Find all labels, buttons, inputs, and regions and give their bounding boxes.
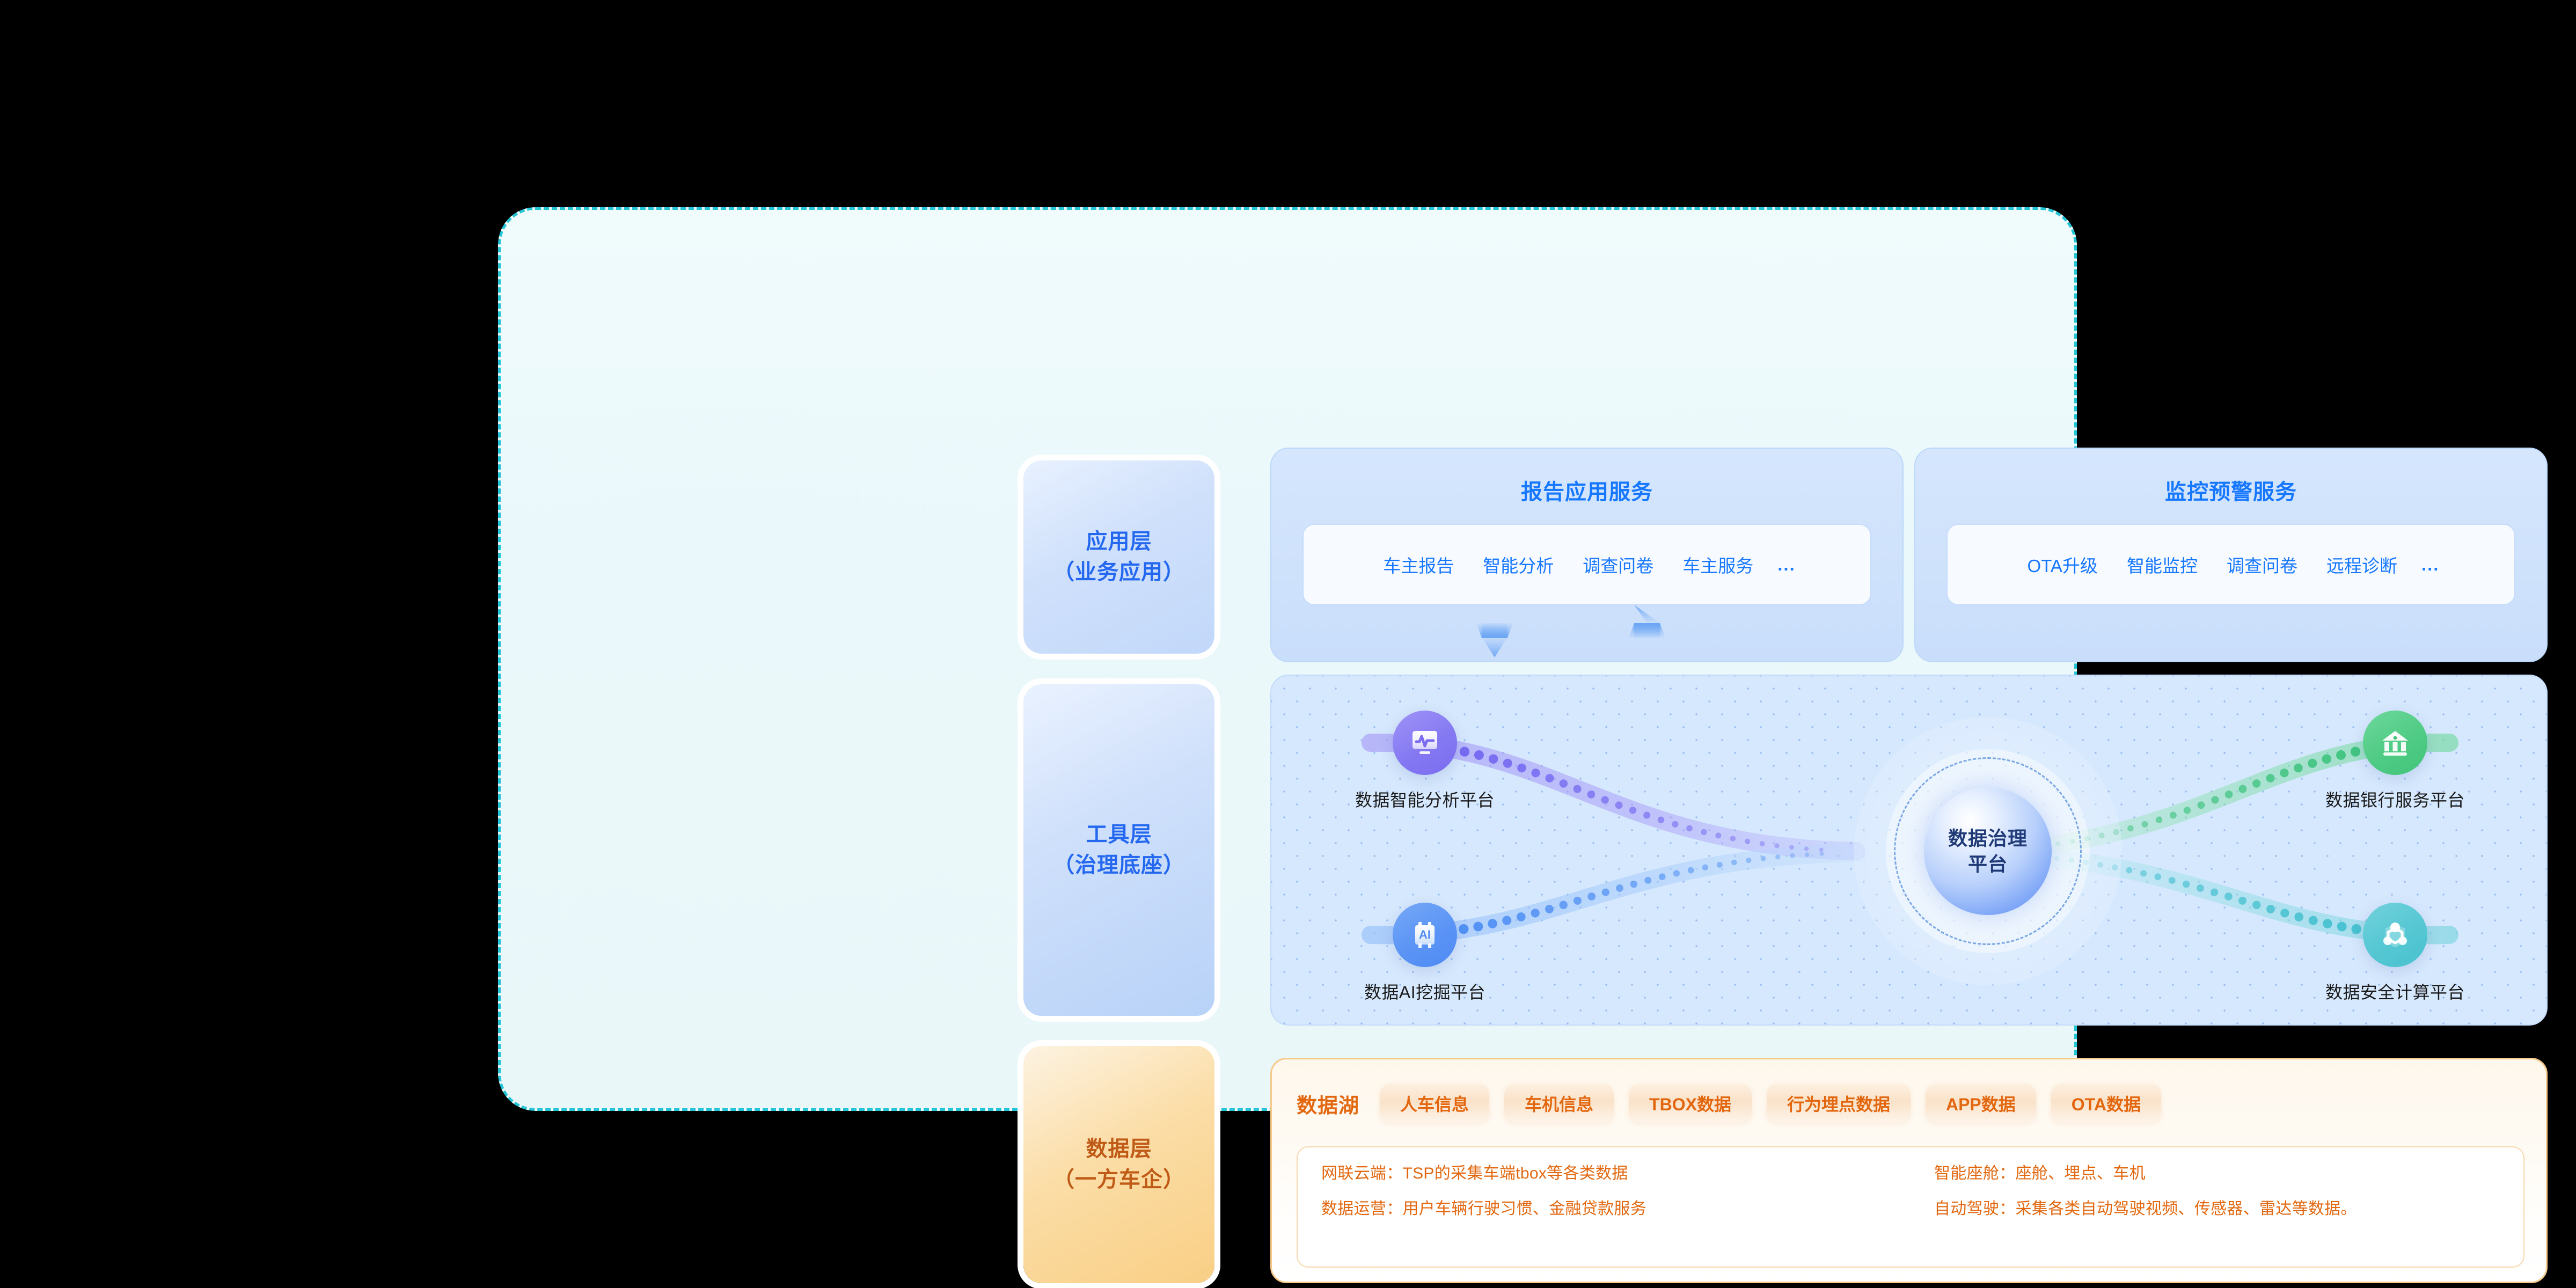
svg-text:AI: AI	[1419, 928, 1431, 941]
flow-dot	[1760, 841, 1765, 846]
flow-dot	[2156, 816, 2163, 823]
flow-dot	[1658, 816, 1665, 823]
service-panel-monitor-title: 监控预警服务	[1915, 474, 2546, 506]
flow-dot	[1790, 853, 1795, 858]
flow-dot	[2225, 791, 2233, 799]
layer-chip-application-line1: 应用层	[1086, 526, 1152, 557]
layer-chip-application-line2: （业务应用）	[1053, 557, 1185, 588]
flow-dot	[1819, 848, 1824, 852]
data-lake-tag-1[interactable]: 车机信息	[1504, 1084, 1614, 1123]
service-item-report-3[interactable]: 车主服务	[1668, 552, 1768, 577]
flow-dot	[1643, 812, 1650, 819]
hub-label: 数据治理 平台	[1948, 825, 2028, 876]
flow-dot	[2183, 881, 2190, 888]
flow-dot	[2238, 785, 2246, 793]
data-lake-row: 数据湖 人车信息 车机信息 TBOX数据 行为埋点数据 APP数据 OTA数据	[1297, 1073, 2524, 1133]
service-panel-report[interactable]: 报告应用服务 车主报告 智能分析 调查问卷 车主服务 ...	[1270, 448, 1904, 662]
flow-dot	[1615, 801, 1623, 809]
flow-dot	[1531, 769, 1540, 777]
flow-dot	[2170, 812, 2177, 819]
service-item-monitor-1[interactable]: 智能监控	[2112, 552, 2212, 577]
flow-dot	[2280, 769, 2288, 777]
node-ai-label: 数据AI挖掘平台	[1325, 979, 1525, 1004]
flow-dot	[1789, 845, 1794, 850]
hub-label-line1: 数据治理	[1948, 825, 2028, 851]
governance-hub[interactable]: 数据治理 平台	[1854, 717, 2122, 985]
flow-dot	[1560, 779, 1568, 787]
flow-dot	[1574, 897, 1582, 905]
data-lake-tag-3[interactable]: 行为埋点数据	[1767, 1084, 1911, 1123]
flow-dot	[2238, 897, 2246, 905]
secure-network-icon	[2377, 917, 2413, 953]
data-lake-tag-4[interactable]: APP数据	[1926, 1084, 2036, 1123]
layer-chip-application[interactable]: 应用层 （业务应用）	[1023, 460, 1214, 654]
flow-dot	[2211, 889, 2218, 896]
flow-dot	[2127, 825, 2134, 832]
flow-dot	[2224, 892, 2233, 901]
tool-layer-panel: 数据治理 平台	[1270, 675, 2548, 1026]
flow-dot	[2126, 867, 2133, 874]
flow-dot	[2266, 774, 2275, 782]
layer-chip-data-line1: 数据层	[1086, 1134, 1152, 1165]
flow-dot	[2142, 821, 2148, 828]
data-layer-card: 数据湖 人车信息 车机信息 TBOX数据 行为埋点数据 APP数据 OTA数据 …	[1270, 1058, 2548, 1283]
node-ai-circle: AI	[1393, 903, 1457, 967]
flow-dot	[1717, 862, 1723, 868]
flow-dot	[1644, 877, 1651, 884]
flow-dot	[1715, 832, 1721, 838]
flow-dot	[1701, 829, 1707, 835]
service-item-report-more[interactable]: ...	[1768, 554, 1805, 575]
ai-chip-icon: AI	[1407, 917, 1443, 953]
description-right-1: 自动驾驶：采集各类自动驾驶视频、传感器、雷达等数据。	[1934, 1201, 2523, 1217]
monitor-pulse-icon	[1407, 724, 1443, 761]
flow-dot	[1774, 843, 1779, 848]
flow-dot	[1587, 892, 1596, 901]
layer-chip-tool-line2: （治理底座）	[1053, 850, 1185, 881]
flow-dot	[1602, 889, 1609, 896]
flow-dot	[1672, 821, 1678, 828]
node-data-secure-platform[interactable]: 数据安全计算平台	[2295, 903, 2495, 1004]
node-data-analysis-platform[interactable]: 数据智能分析平台	[1325, 711, 1525, 811]
flow-dot	[2280, 909, 2289, 917]
node-bank-circle	[2363, 711, 2427, 775]
architecture-outer-container: 应用层 （业务应用） 工具层 （治理底座） 数据层 （一方车企） 报告应用服务 …	[498, 207, 2077, 1111]
flow-dot	[2252, 779, 2260, 787]
service-panel-monitor-items: OTA升级 智能监控 调查问卷 远程诊断 ...	[1946, 524, 2515, 605]
service-item-report-2[interactable]: 调查问卷	[1568, 552, 1668, 577]
service-item-monitor-more[interactable]: ...	[2412, 554, 2449, 575]
flow-dot	[2198, 801, 2205, 809]
flow-dot	[1746, 858, 1751, 863]
flow-dot	[2154, 873, 2161, 880]
service-item-report-0[interactable]: 车主报告	[1368, 552, 1468, 577]
service-panel-report-items: 车主报告 智能分析 调查问卷 车主服务 ...	[1302, 524, 1871, 605]
flow-dot	[1659, 873, 1666, 880]
flow-dot	[1560, 901, 1568, 909]
description-right-0: 智能座舱：座舱、埋点、车机	[1934, 1166, 2523, 1182]
flow-dot	[1745, 839, 1750, 844]
bank-building-icon	[2377, 724, 2413, 761]
flow-dot	[1587, 791, 1596, 799]
flow-dot	[1545, 905, 1554, 913]
flow-dot	[1731, 860, 1737, 865]
flow-dot	[1630, 881, 1637, 888]
node-secure-circle	[2363, 903, 2427, 967]
service-panel-monitor[interactable]: 监控预警服务 OTA升级 智能监控 调查问卷 远程诊断 ...	[1914, 448, 2548, 662]
flow-dot	[1616, 884, 1623, 892]
node-bank-label: 数据银行服务平台	[2295, 787, 2495, 811]
description-left-1: 数据运营：用户车辆行驶习惯、金融贷款服务	[1321, 1201, 1911, 1217]
data-lake-tag-2[interactable]: TBOX数据	[1629, 1084, 1752, 1123]
flow-dot	[1546, 774, 1554, 782]
layer-chip-data[interactable]: 数据层 （一方车企）	[1023, 1046, 1214, 1283]
flow-dot	[2184, 807, 2191, 814]
flow-dot	[2266, 905, 2275, 913]
flow-dot	[2197, 884, 2204, 892]
flow-dot	[2211, 796, 2219, 803]
flow-dot	[1775, 854, 1780, 859]
description-column-left: 网联云端：TSP的采集车端tbox等各类数据 数据运营：用户车辆行驶习惯、金融贷…	[1298, 1147, 1911, 1267]
flow-dot	[1688, 867, 1694, 874]
hub-label-line2: 平台	[1948, 851, 2028, 877]
service-item-monitor-0[interactable]: OTA升级	[2013, 552, 2112, 577]
flow-dot	[1819, 852, 1824, 856]
node-analysis-circle	[1393, 711, 1457, 775]
flow-dot	[1804, 846, 1809, 851]
flow-dot	[2169, 877, 2176, 884]
flow-dot	[1673, 870, 1680, 876]
node-secure-label: 数据安全计算平台	[2295, 979, 2495, 1004]
flow-dot	[1601, 796, 1609, 803]
node-data-bank-platform[interactable]: 数据银行服务平台	[2295, 711, 2495, 811]
service-panel-report-title: 报告应用服务	[1271, 474, 1902, 506]
description-column-right: 智能座舱：座舱、埋点、车机 自动驾驶：采集各类自动驾驶视频、传感器、雷达等数据。	[1911, 1147, 2523, 1267]
service-item-monitor-2[interactable]: 调查问卷	[2212, 552, 2312, 577]
flow-dot	[2252, 901, 2260, 909]
layer-chip-data-line2: （一方车企）	[1053, 1165, 1185, 1195]
flow-dot	[1761, 856, 1766, 861]
layer-chip-tool[interactable]: 工具层 （治理底座）	[1023, 684, 1214, 1016]
flow-dot	[1574, 785, 1582, 793]
data-lake-title: 数据湖	[1297, 1089, 1359, 1118]
service-item-monitor-3[interactable]: 远程诊断	[2312, 552, 2412, 577]
service-item-report-1[interactable]: 智能分析	[1468, 552, 1568, 577]
data-source-description-box: 网联云端：TSP的采集车端tbox等各类数据 数据运营：用户车辆行驶习惯、金融贷…	[1297, 1146, 2524, 1268]
flow-dot	[1629, 807, 1636, 814]
flow-dot	[1686, 825, 1693, 832]
diagram-canvas: 应用层 （业务应用） 工具层 （治理底座） 数据层 （一方车企） 报告应用服务 …	[0, 0, 2576, 1288]
flow-dot	[1805, 852, 1809, 857]
description-left-0: 网联云端：TSP的采集车端tbox等各类数据	[1321, 1166, 1911, 1182]
flow-dot	[1531, 909, 1540, 917]
data-lake-tag-0[interactable]: 人车信息	[1380, 1084, 1489, 1123]
flow-dot	[1730, 836, 1736, 841]
flow-dot	[1702, 865, 1708, 870]
layer-chip-tool-line1: 工具层	[1086, 819, 1152, 850]
flow-dot	[2140, 870, 2147, 876]
data-lake-tag-5[interactable]: OTA数据	[2051, 1084, 2161, 1123]
node-analysis-label: 数据智能分析平台	[1325, 787, 1525, 811]
node-data-ai-platform[interactable]: AI 数据AI挖掘平台	[1325, 903, 1525, 1004]
